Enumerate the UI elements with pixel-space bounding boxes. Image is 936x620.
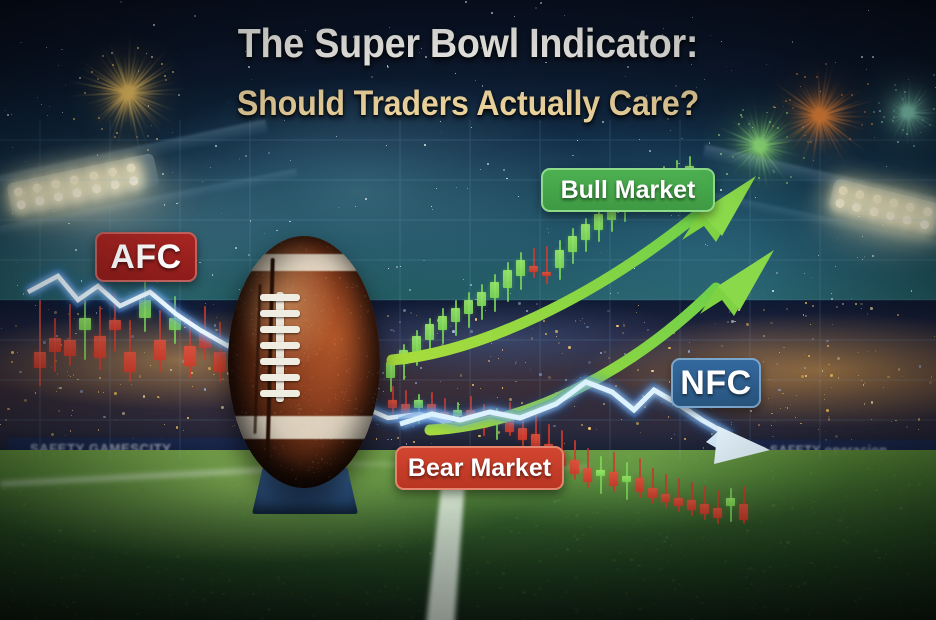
leather-bump (368, 448, 370, 450)
leather-bump (236, 449, 238, 451)
leather-bump (377, 460, 379, 462)
leather-bump (234, 483, 236, 485)
leather-bump (360, 456, 362, 458)
leather-bump (325, 239, 327, 241)
leather-bump (272, 239, 274, 241)
football-body (228, 236, 380, 488)
leather-bump (242, 279, 244, 281)
leather-bump (328, 486, 330, 488)
leather-bump (377, 398, 379, 400)
leather-bump (234, 440, 236, 442)
leather-bump (236, 237, 238, 239)
lace-4 (260, 342, 300, 349)
leather-bump (375, 317, 377, 319)
leather-bump (371, 462, 373, 464)
leather-bump (243, 472, 245, 474)
leather-bump (245, 272, 247, 274)
leather-bump (234, 460, 236, 462)
leather-bump (378, 283, 380, 285)
leather-bump (261, 251, 263, 253)
lace-2 (260, 310, 300, 317)
page-title: The Super Bowl Indicator: (37, 20, 898, 67)
leather-bump (228, 315, 230, 317)
leather-bump (285, 485, 287, 487)
leather-bump (247, 468, 249, 470)
leather-bump (368, 240, 370, 242)
leather-bump (374, 413, 376, 415)
leather-bump (379, 485, 381, 487)
leather-bump (330, 482, 332, 484)
leather-bump (229, 470, 231, 472)
lace-1 (260, 294, 300, 301)
leather-bump (238, 444, 240, 446)
leather-bump (273, 485, 275, 487)
leather-bump (360, 273, 362, 275)
badge-bear-market-label: Bear Market (408, 454, 551, 483)
leather-bump (263, 477, 265, 479)
leather-bump (353, 482, 355, 484)
lace-3 (260, 326, 300, 333)
badge-nfc[interactable]: NFC (671, 358, 761, 408)
leather-bump (379, 476, 380, 478)
leather-bump (262, 486, 264, 488)
badge-bear-market[interactable]: Bear Market (395, 446, 564, 490)
leather-bump (377, 310, 379, 312)
leather-bump (362, 451, 364, 453)
leather-bump (242, 245, 244, 247)
leather-bump (351, 236, 353, 238)
leather-bump (378, 286, 380, 288)
leather-bump (238, 485, 240, 487)
leather-bump (232, 413, 234, 415)
leather-bump (237, 456, 239, 458)
leather-bump (363, 481, 365, 483)
badge-afc-label: AFC (110, 238, 181, 277)
football-laces (260, 292, 300, 402)
leather-bump (377, 249, 379, 251)
leather-bump (241, 281, 243, 283)
leather-bump (245, 449, 247, 451)
banner-image: SAFETY GAMESCITY SAFETY operacion (0, 0, 936, 620)
leather-bump (234, 279, 236, 281)
leather-bump (234, 472, 236, 474)
leather-bump (266, 486, 268, 488)
lace-7 (260, 390, 300, 397)
leather-bump (363, 468, 365, 470)
leather-bump (360, 251, 362, 253)
leather-bump (368, 449, 370, 451)
leather-bump (364, 243, 366, 245)
american-football (228, 236, 380, 488)
leather-bump (327, 484, 329, 486)
leather-bump (254, 471, 256, 473)
leather-bump (335, 484, 337, 486)
badge-nfc-label: NFC (680, 364, 751, 403)
leather-bump (349, 470, 351, 472)
leather-bump (271, 481, 273, 483)
leather-bump (351, 478, 353, 480)
leather-bump (230, 244, 232, 246)
leather-bump (231, 279, 233, 281)
leather-bump (341, 245, 343, 247)
leather-bump (233, 464, 235, 466)
lace-5 (260, 358, 300, 365)
leather-bump (248, 473, 250, 475)
badge-bull-market[interactable]: Bull Market (541, 168, 715, 212)
leather-bump (373, 441, 375, 443)
leather-bump (265, 244, 267, 246)
leather-bump (380, 236, 381, 238)
leather-bump (230, 463, 232, 465)
leather-bump (255, 464, 257, 466)
leather-bump (341, 239, 343, 241)
leather-bump (374, 280, 376, 282)
leather-bump (230, 316, 232, 318)
leather-bump (238, 274, 240, 276)
badge-bull-market-label: Bull Market (561, 176, 696, 205)
leather-bump (360, 468, 362, 470)
leather-bump (241, 243, 243, 245)
leather-bump (228, 239, 230, 241)
badge-afc[interactable]: AFC (95, 232, 197, 282)
leather-bump (369, 295, 371, 297)
leather-bump (377, 278, 379, 280)
leather-bump (374, 461, 376, 463)
football-shadow (228, 236, 380, 488)
leather-bump (367, 277, 369, 279)
leather-bump (231, 466, 233, 468)
leather-bump (270, 485, 272, 487)
leather-bump (250, 472, 252, 474)
leather-bump (374, 301, 376, 303)
page-subtitle: Should Traders Actually Care? (37, 84, 898, 124)
lace-6 (260, 374, 300, 381)
